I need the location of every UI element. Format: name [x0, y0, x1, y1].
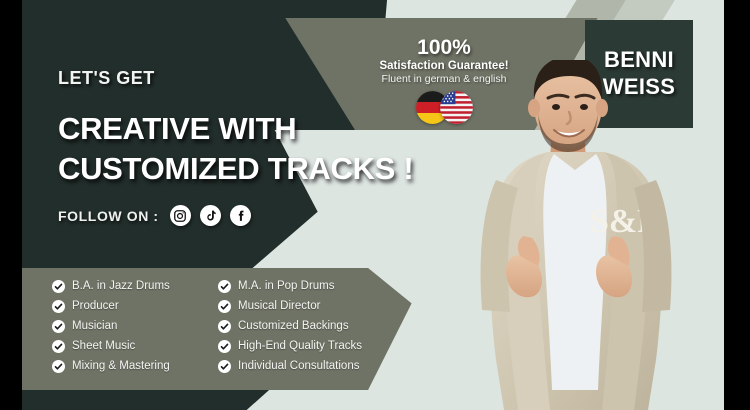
checklist-column-left: B.A. in Jazz Drums Producer Musician She…: [52, 278, 200, 374]
list-item-label: Sheet Music: [72, 340, 135, 352]
list-item: Individual Consultations: [218, 358, 362, 374]
list-item-label: M.A. in Pop Drums: [238, 280, 335, 292]
list-item: Sheet Music: [52, 338, 200, 354]
list-item-label: Producer: [72, 300, 119, 312]
list-item: B.A. in Jazz Drums: [52, 278, 200, 294]
list-item: Mixing & Mastering: [52, 358, 200, 374]
list-item-label: B.A. in Jazz Drums: [72, 280, 170, 292]
headline-line-1: CREATIVE WITH: [58, 109, 413, 149]
check-icon: [52, 340, 65, 353]
list-item-label: Musician: [72, 320, 117, 332]
list-item: M.A. in Pop Drums: [218, 278, 362, 294]
follow-on-row: FOLLOW ON :: [58, 205, 251, 226]
check-icon: [52, 300, 65, 313]
list-item-label: Musical Director: [238, 300, 320, 312]
list-item: Producer: [52, 298, 200, 314]
facebook-icon[interactable]: [230, 205, 251, 226]
list-item: Musician: [52, 318, 200, 334]
check-icon: [52, 360, 65, 373]
letterbox-bar-left: [0, 0, 22, 410]
check-icon: [218, 280, 231, 293]
presenter-photo: S&F: [452, 60, 702, 410]
letterbox-bar-right: [724, 0, 750, 410]
list-item: Musical Director: [218, 298, 362, 314]
check-icon: [218, 320, 231, 333]
check-icon: [218, 300, 231, 313]
checklist-column-right: M.A. in Pop Drums Musical Director Custo…: [218, 278, 362, 374]
list-item: Customized Backings: [218, 318, 362, 334]
check-icon: [218, 360, 231, 373]
follow-on-label: FOLLOW ON :: [58, 208, 159, 224]
headline-kicker: LET'S GET: [58, 68, 413, 89]
instagram-icon[interactable]: [170, 205, 191, 226]
thumbnail-canvas: LET'S GET CREATIVE WITH CUSTOMIZED TRACK…: [0, 0, 750, 410]
headline-line-2: CUSTOMIZED TRACKS !: [58, 149, 413, 189]
list-item: High-End Quality Tracks: [218, 338, 362, 354]
check-icon: [52, 280, 65, 293]
list-item-label: Mixing & Mastering: [72, 360, 170, 372]
list-item-label: Individual Consultations: [238, 360, 359, 372]
headline-block: LET'S GET CREATIVE WITH CUSTOMIZED TRACK…: [58, 68, 413, 188]
tiktok-icon[interactable]: [200, 205, 221, 226]
check-icon: [218, 340, 231, 353]
list-item-label: High-End Quality Tracks: [238, 340, 362, 352]
list-item-label: Customized Backings: [238, 320, 349, 332]
check-icon: [52, 320, 65, 333]
credentials-checklist: B.A. in Jazz Drums Producer Musician She…: [52, 278, 362, 374]
guarantee-percent: 100%: [374, 36, 514, 59]
